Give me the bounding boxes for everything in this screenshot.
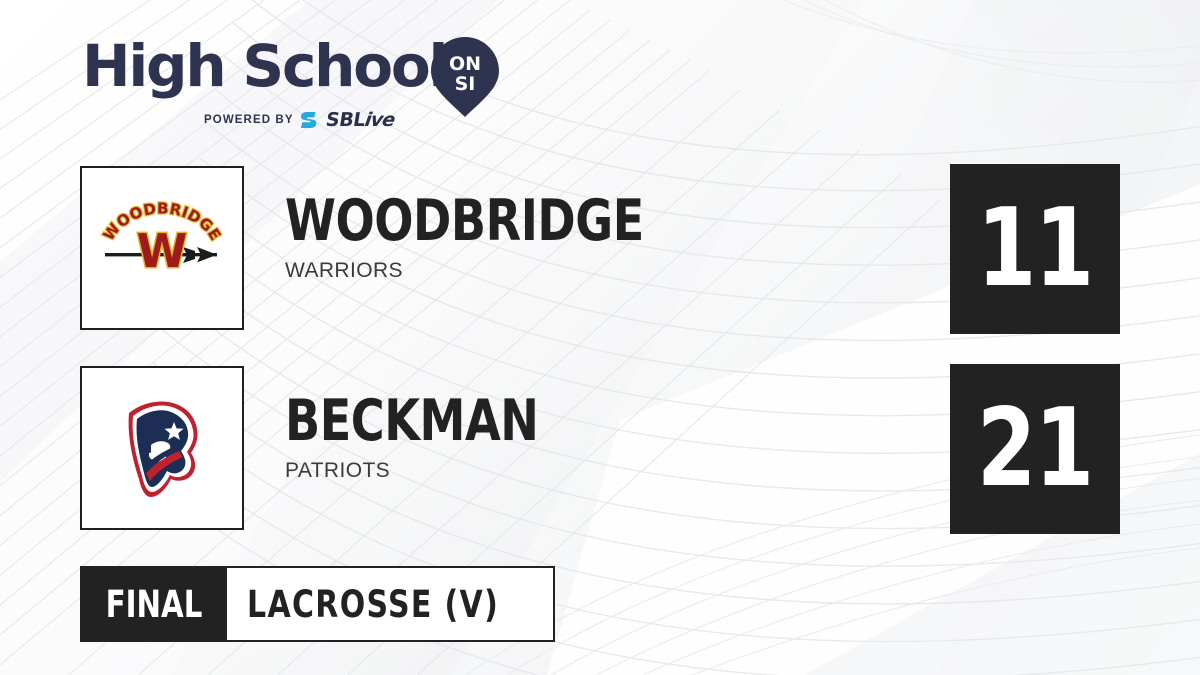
pin-label-si: SI bbox=[431, 75, 499, 94]
team-score: 11 bbox=[977, 195, 1092, 303]
sblive-primary: SBL bbox=[324, 109, 367, 131]
powered-by-row: POWERED BY SBLive bbox=[204, 109, 394, 131]
team-score: 21 bbox=[977, 395, 1092, 503]
team-name: BECKMAN bbox=[285, 392, 861, 450]
brand-wordmark: High School bbox=[82, 33, 446, 99]
team-logo-box bbox=[80, 366, 244, 530]
team-row: BECKMAN PATRIOTS 21 bbox=[80, 366, 1120, 534]
team-row: WOODBRIDGE W WOODBRIDGE WARRIORS 11 bbox=[80, 166, 1120, 334]
team-score-box: 21 bbox=[950, 364, 1120, 534]
game-status-bar: FINAL LACROSSE (V) bbox=[80, 566, 555, 642]
team-mascot: PATRIOTS bbox=[285, 459, 925, 483]
scoreboard-graphic: High School ON SI POWERED BY SBLive bbox=[0, 0, 1200, 675]
pin-label-on: ON bbox=[431, 55, 499, 74]
status-badge: FINAL bbox=[80, 566, 227, 642]
team-identity: WOODBRIDGE WARRIORS bbox=[285, 192, 925, 283]
beckman-patriots-logo bbox=[99, 385, 225, 511]
team-mascot: WARRIORS bbox=[285, 259, 925, 283]
status-badge-label: FINAL bbox=[105, 586, 202, 623]
team-logo-box: WOODBRIDGE W bbox=[80, 166, 244, 330]
powered-by-label: POWERED BY bbox=[204, 114, 294, 126]
sblive-italic: ive bbox=[363, 109, 396, 131]
svg-text:W: W bbox=[137, 224, 188, 278]
sport-label: LACROSSE (V) bbox=[247, 586, 499, 623]
on-si-pin-icon: ON SI bbox=[431, 37, 499, 117]
woodbridge-warriors-logo: WOODBRIDGE W bbox=[97, 183, 227, 313]
team-name: WOODBRIDGE bbox=[285, 192, 861, 250]
team-score-box: 11 bbox=[950, 164, 1120, 334]
sblive-wordmark: SBLive bbox=[324, 109, 396, 131]
sblive-bolt-icon bbox=[301, 112, 319, 128]
brand-header: High School ON SI POWERED BY SBLive bbox=[82, 33, 512, 133]
sport-label-box: LACROSSE (V) bbox=[227, 566, 555, 642]
team-identity: BECKMAN PATRIOTS bbox=[285, 392, 925, 483]
